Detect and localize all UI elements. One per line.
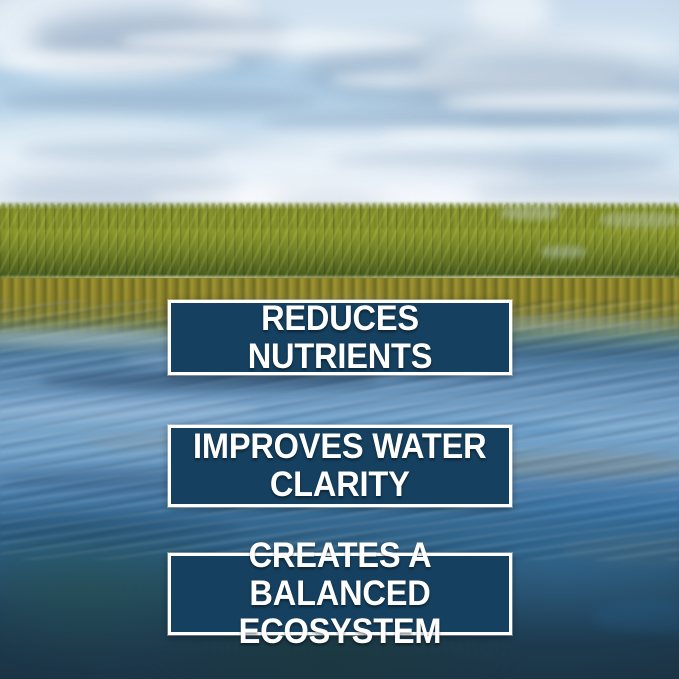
promo-image: REDUCES NUTRIENTS IMPROVES WATER CLARITY… xyxy=(0,0,679,679)
tree-texture-diagonal xyxy=(0,205,679,281)
treeline-gap xyxy=(500,206,560,220)
treeline-gap xyxy=(600,212,679,228)
banner-reduces-nutrients: REDUCES NUTRIENTS xyxy=(168,300,512,375)
cloud-layer xyxy=(0,0,679,232)
banner-text: REDUCES NUTRIENTS xyxy=(183,300,497,376)
banner-text: CREATES A BALANCED ECOSYSTEM xyxy=(183,537,497,651)
banner-text: IMPROVES WATER CLARITY xyxy=(193,428,486,504)
banner-improves-water-clarity: IMPROVES WATER CLARITY xyxy=(168,425,512,507)
treeline-gap xyxy=(540,246,586,258)
banner-creates-a-balanced-ecosystem: CREATES A BALANCED ECOSYSTEM xyxy=(168,553,512,635)
